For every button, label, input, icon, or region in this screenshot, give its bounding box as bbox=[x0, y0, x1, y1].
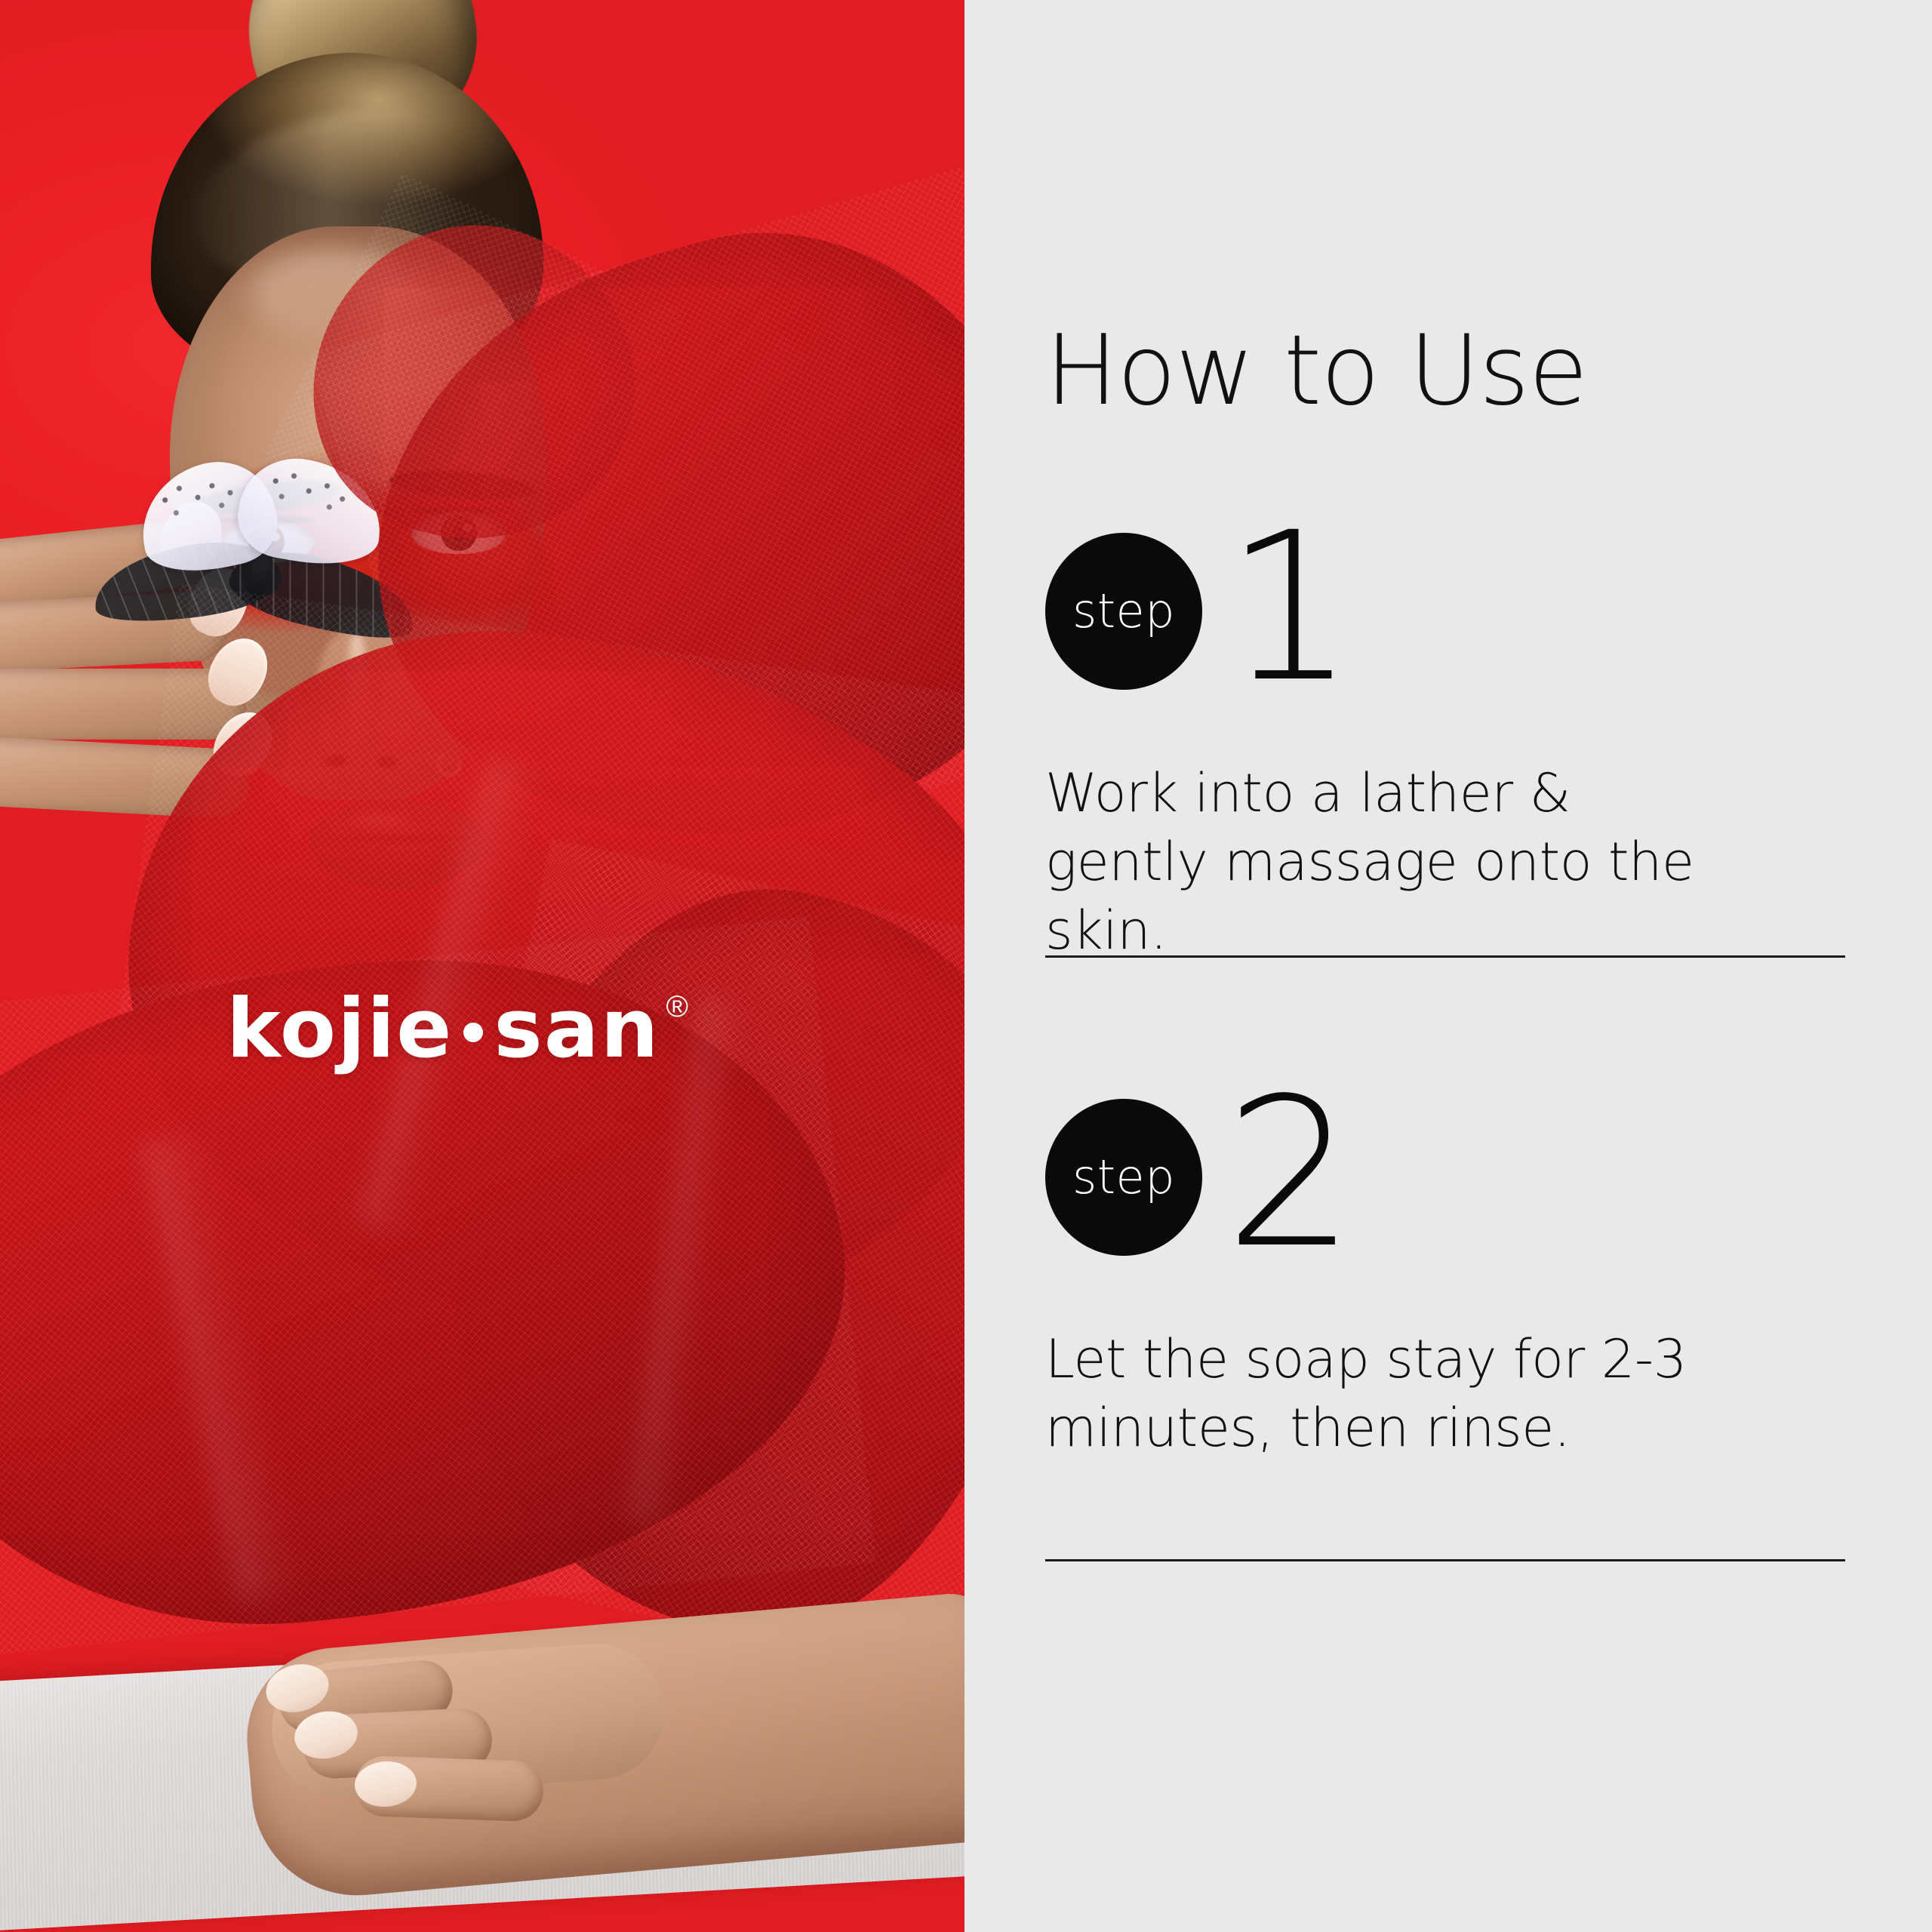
brand-logo-word-2: san bbox=[494, 989, 660, 1070]
product-model-photo: kojie san ® bbox=[0, 0, 964, 1932]
nostril-right bbox=[377, 756, 397, 768]
section-divider-1 bbox=[1045, 955, 1845, 958]
brand-logo-word-1: kojie bbox=[226, 989, 453, 1070]
step-description-1: Work into a lather & gently massage onto… bbox=[1045, 759, 1815, 965]
brand-logo-text: kojie san bbox=[226, 989, 660, 1070]
how-to-use-panel: How to Use step 1 Work into a lather & g… bbox=[964, 0, 1932, 1932]
butterfly-icon bbox=[140, 464, 389, 660]
step-number-1: 1 bbox=[1225, 506, 1355, 711]
step-description-line-1: Let the soap stay for 2-3 bbox=[1045, 1328, 1687, 1390]
step-number-2: 2 bbox=[1225, 1072, 1355, 1277]
eye-glint-right bbox=[463, 524, 472, 532]
registered-trademark-icon: ® bbox=[666, 992, 688, 1022]
step-description-line-2: minutes, then rinse. bbox=[1045, 1394, 1815, 1463]
step-badge-label-2: step bbox=[1072, 1154, 1175, 1201]
page-title: How to Use bbox=[1045, 323, 1587, 420]
section-divider-2 bbox=[1045, 1559, 1845, 1561]
poster-canvas: kojie san ® How to Use step 1 Work into … bbox=[0, 0, 1932, 1932]
step-description-2: Let the soap stay for 2-3 minutes, then … bbox=[1045, 1325, 1815, 1463]
step-description-line-1: Work into a lather & bbox=[1045, 762, 1571, 824]
forehead-highlight bbox=[249, 249, 423, 340]
eye-right bbox=[411, 512, 506, 554]
step-badge-1: step bbox=[1045, 533, 1202, 690]
brand-logo: kojie san ® bbox=[226, 989, 688, 1070]
bullet-dot-icon bbox=[463, 1023, 483, 1042]
step-badge-2: step bbox=[1045, 1099, 1202, 1256]
step-description-line-2: gently massage onto the skin. bbox=[1045, 828, 1815, 965]
step-badge-label-1: step bbox=[1072, 588, 1175, 635]
